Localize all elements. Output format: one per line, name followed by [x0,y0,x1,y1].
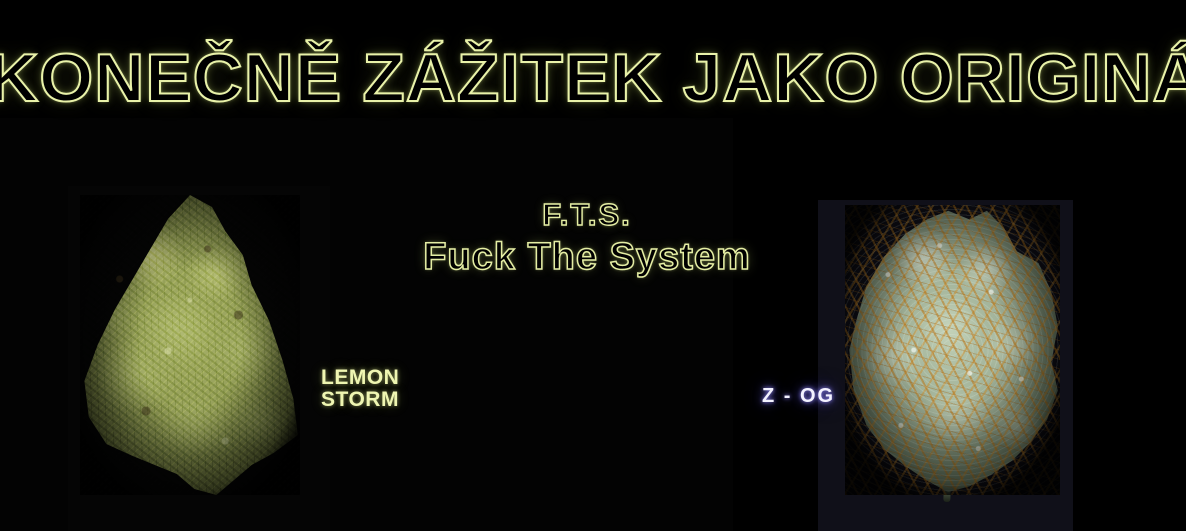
fts-expansion: Fuck The System [0,237,1180,277]
strain-label-lemon-storm: LEMON STORM [321,367,399,411]
fts-abbreviation: F.T.S. [0,198,1180,232]
center-backdrop-panel [0,118,733,531]
banner-canvas: KONEČNĚ ZÁŽITEK JAKO ORIGINÁL F.T.S. Fuc… [0,0,1186,531]
strain-label-line-2: STORM [321,389,399,411]
banner-headline: KONEČNĚ ZÁŽITEK JAKO ORIGINÁL [0,44,1186,112]
strain-label-z-og: Z - OG [762,385,835,408]
strain-label-line-1: LEMON [321,367,399,389]
bud-stem [943,460,951,502]
fts-slogan-block: F.T.S. Fuck The System [0,198,1186,277]
